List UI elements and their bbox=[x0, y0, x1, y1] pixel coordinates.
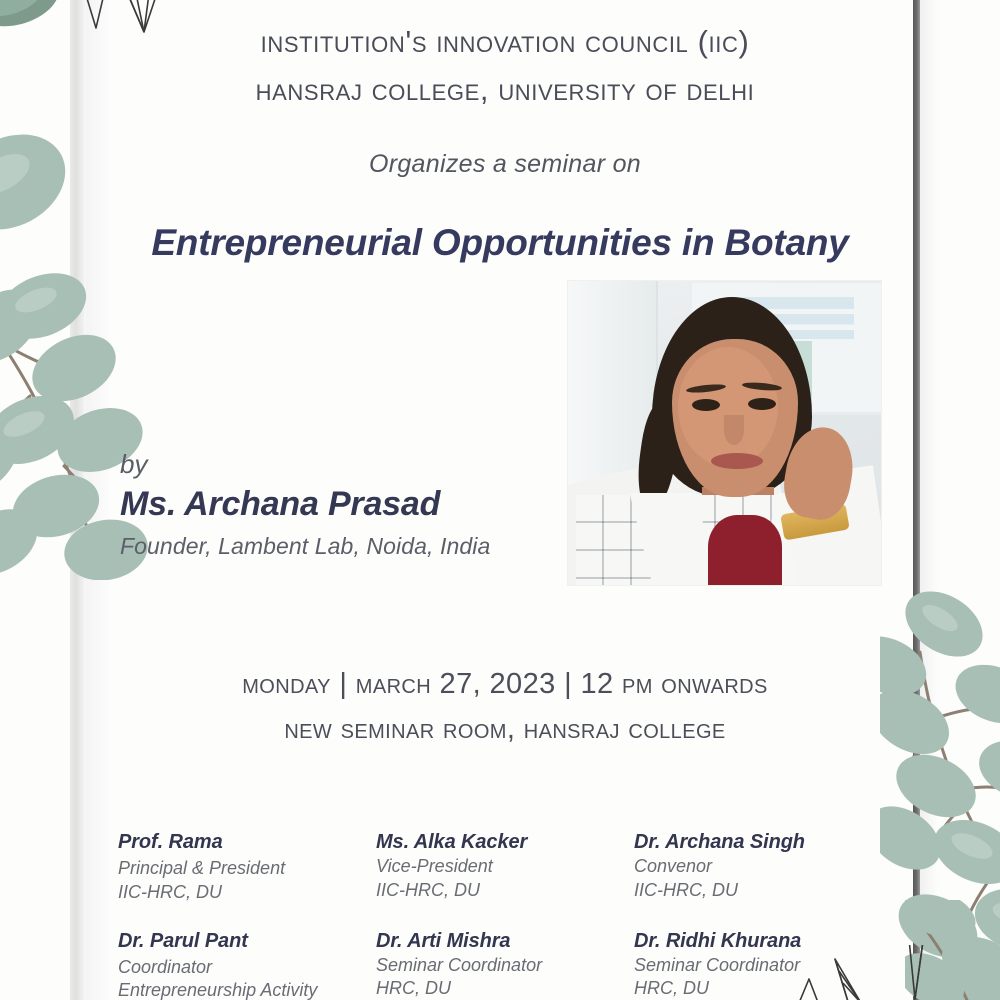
credit-name: Dr. Archana Singh bbox=[634, 830, 892, 855]
speaker-affiliation: Founder, Lambent Lab, Noida, India bbox=[120, 533, 550, 561]
credit-card: Dr. Arti Mishra Seminar Coordinator HRC,… bbox=[376, 929, 634, 1000]
speaker-by-label: by bbox=[120, 450, 550, 479]
credit-name: Ms. Alka Kacker bbox=[376, 830, 634, 855]
speaker-portrait bbox=[568, 281, 881, 585]
credit-role: Principal & President bbox=[118, 857, 376, 881]
credits-row: Dr. Parul Pant Coordinator Entrepreneurs… bbox=[118, 929, 918, 1000]
credit-name: Dr. Parul Pant bbox=[118, 929, 376, 954]
credit-role: Coordinator bbox=[118, 956, 376, 980]
credit-card: Dr. Ridhi Khurana Seminar Coordinator HR… bbox=[634, 929, 892, 1000]
poster-header: Institution's Innovation Council (IIC) H… bbox=[110, 18, 900, 114]
portrait-nose bbox=[724, 415, 744, 445]
credit-card: Prof. Rama Principal & President IIC-HRC… bbox=[118, 830, 376, 905]
right-panel-shadow bbox=[920, 0, 938, 1000]
schedule-venue: New Seminar Room, Hansraj College bbox=[100, 707, 910, 752]
portrait-maroon-top bbox=[708, 515, 782, 585]
header-line-college: Hansraj College, University of Delhi bbox=[110, 66, 900, 114]
left-panel-shadow bbox=[86, 0, 112, 1000]
credit-org: IIC-HRC, DU bbox=[634, 879, 892, 903]
speaker-block: by Ms. Archana Prasad Founder, Lambent L… bbox=[120, 450, 550, 560]
credit-card: Dr. Archana Singh Convenor IIC-HRC, DU bbox=[634, 830, 892, 905]
credit-org: IIC-HRC, DU bbox=[118, 881, 376, 905]
portrait-lips bbox=[711, 453, 763, 469]
speaker-name: Ms. Archana Prasad bbox=[120, 485, 550, 524]
schedule-datetime: Monday | March 27, 2023 | 12 PM Onwards bbox=[100, 662, 910, 707]
left-panel-edge bbox=[70, 0, 86, 1000]
schedule-block: Monday | March 27, 2023 | 12 PM Onwards … bbox=[100, 662, 910, 752]
credits-row: Prof. Rama Principal & President IIC-HRC… bbox=[118, 830, 918, 905]
credit-name: Dr. Ridhi Khurana bbox=[634, 929, 892, 954]
header-line-council: Institution's Innovation Council (IIC) bbox=[110, 18, 900, 66]
credit-org: HRC, DU bbox=[634, 977, 892, 1000]
page-title: Entrepreneurial Opportunities in Botany bbox=[40, 222, 960, 264]
credit-role: Seminar Coordinator bbox=[376, 954, 634, 978]
seminar-poster: Institution's Innovation Council (IIC) H… bbox=[0, 0, 1000, 1000]
credit-card: Ms. Alka Kacker Vice-President IIC-HRC, … bbox=[376, 830, 634, 905]
portrait-eye-right bbox=[748, 398, 776, 410]
portrait-eye-left bbox=[692, 399, 720, 411]
organizer-credits: Prof. Rama Principal & President IIC-HRC… bbox=[118, 830, 918, 1000]
credit-role: Convenor bbox=[634, 855, 892, 879]
credit-role2: Entrepreneurship Activity bbox=[118, 979, 376, 1000]
credit-name: Prof. Rama bbox=[118, 830, 376, 855]
credit-name: Dr. Arti Mishra bbox=[376, 929, 634, 954]
credit-role: Seminar Coordinator bbox=[634, 954, 892, 978]
credit-org: HRC, DU bbox=[376, 977, 634, 1000]
organizes-label: Organizes a seminar on bbox=[110, 150, 900, 179]
credit-role: Vice-President bbox=[376, 855, 634, 879]
credit-org: IIC-HRC, DU bbox=[376, 879, 634, 903]
credit-card: Dr. Parul Pant Coordinator Entrepreneurs… bbox=[118, 929, 376, 1000]
